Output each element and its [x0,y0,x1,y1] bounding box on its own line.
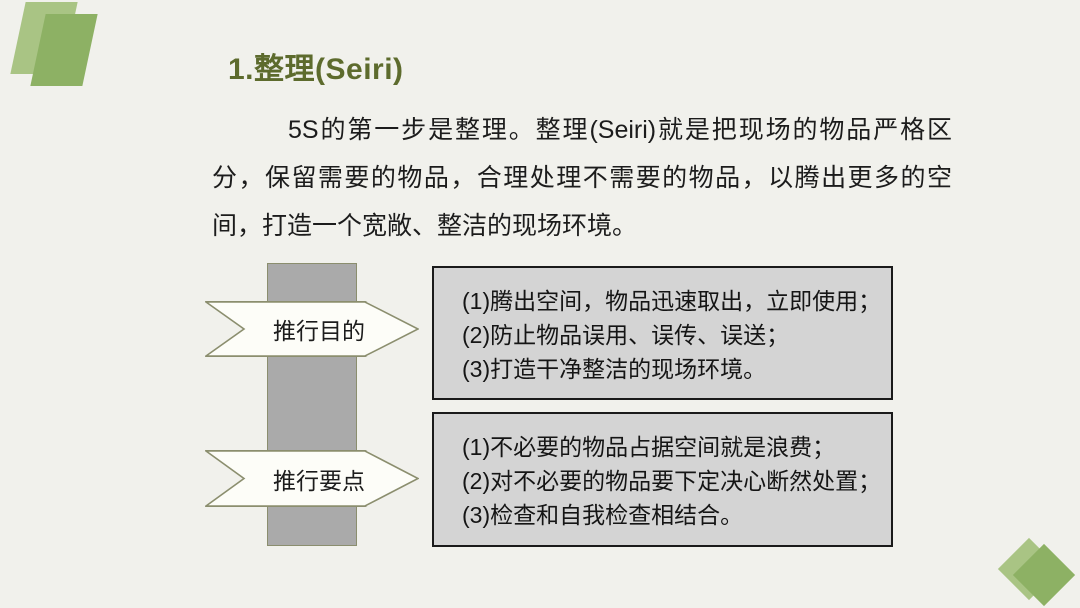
box-line: (2)防止物品误用、误传、误送； [462,318,891,352]
chevron-label-purpose: 推行目的 [205,301,419,357]
chevron-label-keypoints: 推行要点 [205,450,419,507]
purpose-box: (1)腾出空间，物品迅速取出，立即使用； (2)防止物品误用、误传、误送； (3… [432,266,893,400]
box-line: (3)检查和自我检查相结合。 [462,498,891,532]
box-line: (3)打造干净整洁的现场环境。 [462,352,891,386]
slide-canvas: 1.整理(Seiri) 5S的第一步是整理。整理(Seiri)就是把现场的物品严… [0,0,1080,608]
box-line: (1)不必要的物品占据空间就是浪费； [462,430,891,464]
chevron-label-text: 推行目的 [259,312,365,346]
box-line: (1)腾出空间，物品迅速取出，立即使用； [462,284,891,318]
chevron-label-text: 推行要点 [259,462,365,496]
box-line: (2)对不必要的物品要下定决心断然处置； [462,464,891,498]
keypoints-box: (1)不必要的物品占据空间就是浪费； (2)对不必要的物品要下定决心断然处置； … [432,412,893,547]
intro-paragraph: 5S的第一步是整理。整理(Seiri)就是把现场的物品严格区分，保留需要的物品，… [212,106,952,250]
slide-title: 1.整理(Seiri) [228,44,404,88]
